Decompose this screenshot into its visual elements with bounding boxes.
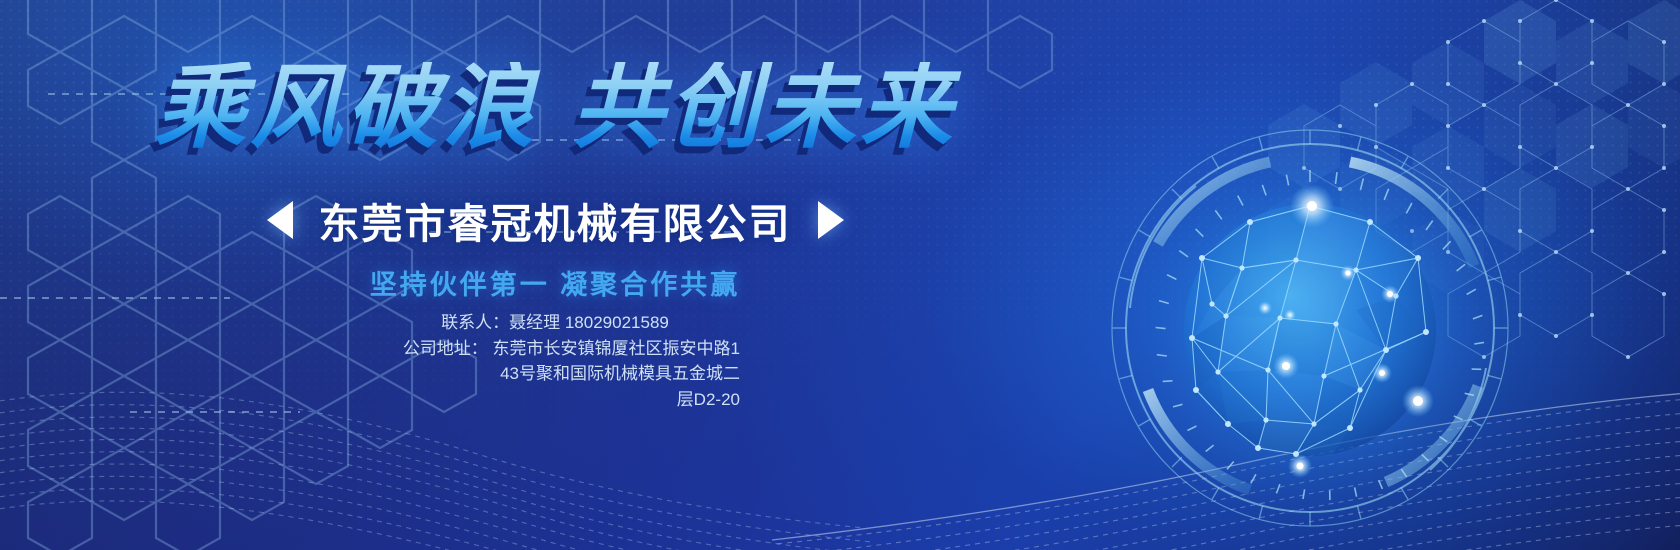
- tech-sphere-graphic: [1100, 118, 1520, 538]
- promotional-banner: 乘风破浪共创未来 东莞市睿冠机械有限公司 坚持伙伴第一 凝聚合作共赢 联系人：聂…: [0, 0, 1680, 550]
